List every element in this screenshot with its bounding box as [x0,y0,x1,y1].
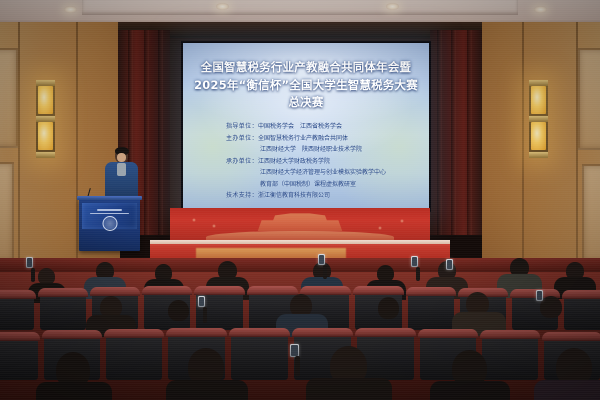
detail-value: 中国税务学会 江西省税务学会 [258,123,342,130]
phone-icon [536,290,543,301]
podium-banner [82,203,137,229]
audience-head [540,296,562,318]
slide-detail-row: 江西财经大学经济管理与创业模拟实验教学中心 [226,167,386,179]
theater-seat [231,330,288,380]
slide-detail-row: 技术支持：浙江衡信教育科技有限公司 [226,190,386,202]
ceiling-downlight-icon [534,6,547,13]
detail-value: 浙江衡信教育科技有限公司 [258,192,330,199]
slide-detail-row: 承办单位：江西财经大学财政税务学院 [226,156,386,168]
detail-label: 技术支持： [226,192,258,199]
auditorium-photo: 全国智慧税务行业产教融合共同体年会暨 2025年“衡信杯”全国大学生智慧税务大赛… [0,0,600,400]
audience-shoulders [306,378,392,400]
slide-title-line-1: 全国智慧税务行业产教融合共同体年会暨 [191,59,421,77]
podium [79,199,140,251]
slide-detail-row: 江西财经大学 陕西财经职业技术学院 [226,144,386,156]
wall-sconce-left [36,80,55,158]
audience-shoulders [166,380,248,400]
audience-shoulders [534,380,600,400]
slide-detail-row: 主办单位：全国智慧税务行业产教融合共同体 [226,133,386,145]
stage-valance [118,22,482,38]
ceiling-downlight-icon [64,6,77,13]
theater-seat [40,290,86,330]
theater-seat [408,289,454,330]
slide-title-line-2: 2025年“衡信杯”全国大学生智慧税务大赛总决赛 [191,77,421,112]
backdrop-building-motif [252,211,348,231]
theater-seat [106,331,162,380]
stage-backdrop [170,208,430,244]
detail-label: 主办单位： [226,135,258,142]
detail-value: 江西财经大学经济管理与创业模拟实验教学中心 [260,169,386,176]
stage-curtain-right [430,30,482,235]
detail-label: 承办单位： [226,158,258,165]
detail-label: 指导单位： [226,123,258,130]
wall-right [482,22,600,282]
phone-icon [26,257,33,268]
phone-icon [198,296,205,307]
detail-value: 江西财经大学 陕西财经职业技术学院 [260,146,362,153]
phone-icon [446,259,453,270]
raised-arm [323,265,327,279]
detail-value: 全国智慧税务行业产教融合共同体 [258,135,348,142]
wall-sconce-right [529,80,548,158]
detail-value: 江西财经大学财政税务学院 [258,158,330,165]
theater-seat [0,292,34,330]
ceiling-downlight-icon [386,3,399,10]
detail-value: 教育部（中国税制）课程虚拟教研室 [260,181,356,188]
phone-icon [318,254,325,265]
slide-detail-block: 指导单位：中国税务学会 江西省税务学会 主办单位：全国智慧税务行业产教融合共同体… [226,121,386,202]
phone-icon [411,256,418,267]
projection-screen: 全国智慧税务行业产教融合共同体年会暨 2025年“衡信杯”全国大学生智慧税务大赛… [181,41,431,212]
audience-head [378,297,399,319]
theater-seat [0,334,38,380]
theater-seat [564,292,600,330]
emblem-icon [102,216,117,231]
theater-seat [482,332,538,380]
raised-arm [203,307,207,323]
ceiling-downlight-icon [216,3,229,10]
audience-shoulders [430,381,510,400]
audience-shoulders [36,382,112,400]
slide-detail-row: 教育部（中国税制）课程虚拟教研室 [226,179,386,191]
ceiling-recess [82,0,518,15]
raised-arm [416,267,420,281]
slide-content: 全国智慧税务行业产教融合共同体年会暨 2025年“衡信杯”全国大学生智慧税务大赛… [183,43,429,210]
slide-detail-row: 指导单位：中国税务学会 江西省税务学会 [226,121,386,133]
raised-arm [31,268,35,282]
raised-arm [295,356,300,376]
audience-head [168,300,189,321]
